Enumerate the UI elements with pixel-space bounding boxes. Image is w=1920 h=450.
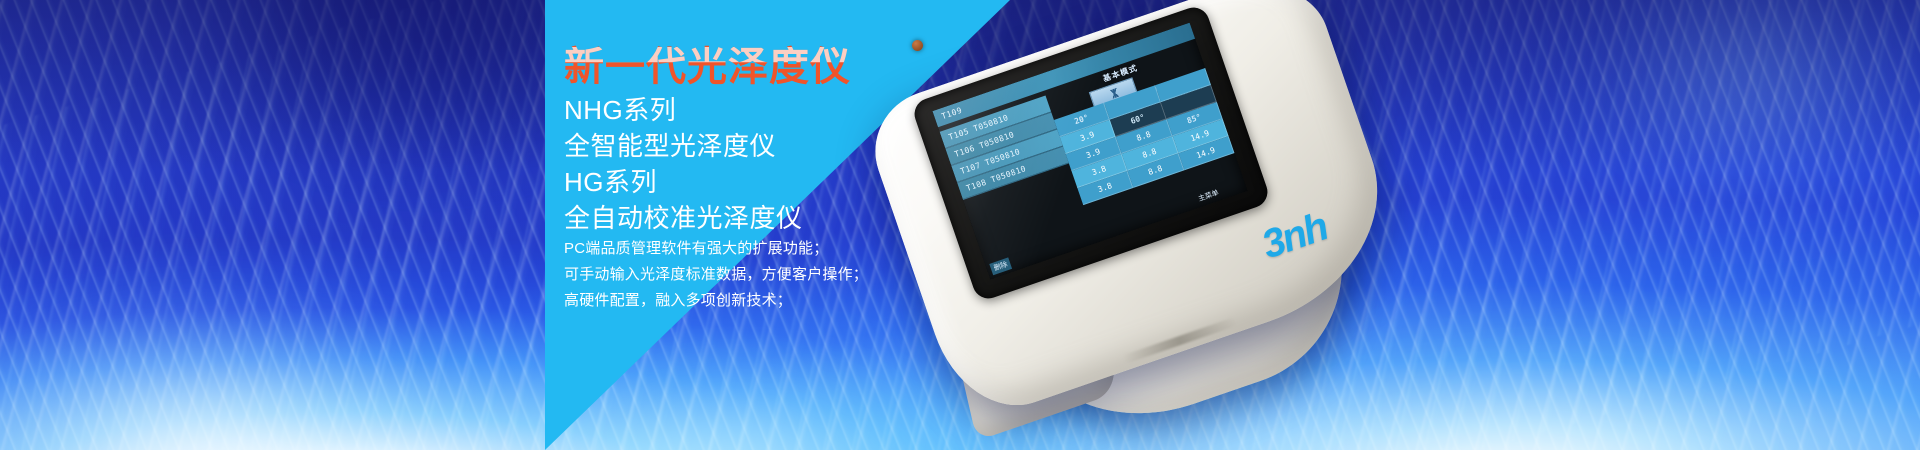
product-series-line: 全智能型光泽度仪 (564, 128, 803, 164)
product-series-list: NHG系列 全智能型光泽度仪 HG系列 全自动校准光泽度仪 (564, 92, 803, 236)
product-series-line: HG系列 (564, 164, 803, 200)
feature-list: PC端品质管理软件有强大的扩展功能； 可手动输入光泽度标准数据，方便客户操作； … (564, 236, 868, 314)
device-indicator-led (912, 40, 923, 51)
measurement-table: 20° 3.9 60° 3.9 8.8 85° 3.8 8.8 1 (1054, 68, 1235, 205)
product-series-line: NHG系列 (564, 92, 803, 128)
gloss-meter-device: T109 T105 T050810 T106 T050810 T107 T050… (870, 18, 1430, 418)
headline-text: 新一代光泽度仪 (564, 45, 851, 89)
feature-item: 可手动输入光泽度标准数据，方便客户操作； (564, 262, 868, 288)
banner-stage: 新一代光泽度仪 新一代光泽度仪 NHG系列 全智能型光泽度仪 HG系列 全自动校… (0, 0, 1920, 450)
screen-delete-button[interactable]: 删除 (989, 257, 1012, 275)
feature-item: 高硬件配置，融入多项创新技术； (564, 288, 868, 314)
page-title: 新一代光泽度仪 新一代光泽度仪 (564, 47, 851, 87)
product-series-line: 全自动校准光泽度仪 (564, 200, 803, 236)
feature-item: PC端品质管理软件有强大的扩展功能； (564, 236, 868, 262)
